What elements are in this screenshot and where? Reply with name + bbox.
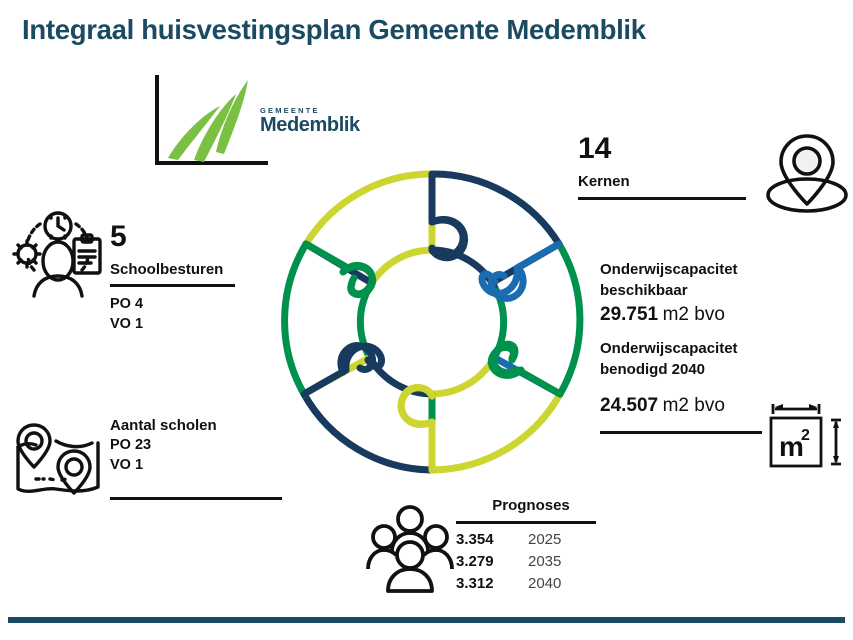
page-title: Integraal huisvestingsplan Gemeente Mede…: [22, 14, 646, 46]
map-with-pins-icon: [12, 417, 108, 495]
benodigd-label-line2: benodigd 2040: [600, 359, 762, 380]
prognoses-year: 2040: [528, 575, 561, 592]
scholen-po: PO 23: [110, 435, 282, 455]
prognoses-year: 2025: [528, 531, 561, 548]
stat-aantal-scholen: Aantal scholen PO 23 VO 1: [110, 417, 282, 500]
location-pin-icon: [762, 132, 852, 214]
prognoses-value: 3.312: [456, 575, 528, 592]
schoolbesturen-vo: VO 1: [110, 314, 235, 334]
benodigd-value: 24.507: [600, 395, 658, 416]
kernen-label: Kernen: [578, 173, 746, 190]
benodigd-value-line: 24.507 m2 bvo: [600, 395, 762, 417]
table-row: 3.354 2025: [456, 531, 606, 548]
square-meter-dimension-icon: m 2: [765, 398, 847, 470]
beschikbaar-unit: m2 bvo: [663, 304, 725, 325]
infographic-canvas: Integraal huisvestingsplan Gemeente Mede…: [0, 0, 853, 640]
stat-schoolbesturen: 5 Schoolbesturen PO 4 VO 1: [110, 222, 235, 334]
prognoses-value: 3.279: [456, 553, 528, 570]
stat-onderwijscapaciteit-beschikbaar: Onderwijscapacitet beschikbaar 29.751 m2…: [600, 259, 738, 326]
prognoses-value: 3.354: [456, 531, 528, 548]
beschikbaar-value-line: 29.751 m2 bvo: [600, 304, 738, 326]
kernen-count: 14: [578, 134, 746, 164]
beschikbaar-value: 29.751: [600, 304, 658, 325]
beschikbaar-label-line2: beschikbaar: [600, 280, 738, 301]
beschikbaar-label-line1: Onderwijscapacitet: [600, 259, 738, 280]
scholen-vo: VO 1: [110, 455, 282, 475]
prognoses-title: Prognoses: [456, 497, 606, 514]
schoolbesturen-divider: [110, 284, 235, 287]
scholen-divider: [110, 497, 282, 500]
prognoses-year: 2035: [528, 553, 561, 570]
m2-icon-exponent: 2: [801, 427, 810, 444]
schoolbesturen-label: Schoolbesturen: [110, 261, 235, 278]
kernen-divider: [578, 197, 746, 200]
footer-bar: [8, 617, 845, 623]
circular-puzzle-six-pieces: [272, 152, 592, 492]
logo-municipality-name: Medemblik: [260, 114, 360, 137]
benodigd-divider: [600, 431, 762, 434]
prognoses-table: Prognoses 3.354 2025 3.279 2035 3.312 20…: [456, 497, 606, 597]
school-board-person-gear-clock-clipboard-icon: [10, 206, 106, 298]
benodigd-unit: m2 bvo: [663, 395, 725, 416]
scholen-label: Aantal scholen: [110, 417, 282, 434]
stat-kernen: 14 Kernen: [578, 134, 746, 200]
benodigd-label-line1: Onderwijscapacitet: [600, 338, 762, 359]
table-row: 3.312 2040: [456, 575, 606, 592]
table-row: 3.279 2035: [456, 553, 606, 570]
schoolbesturen-po: PO 4: [110, 294, 235, 314]
schoolbesturen-count: 5: [110, 222, 235, 252]
medemblik-leaves-logo-icon: [152, 72, 272, 168]
stat-onderwijscapaciteit-benodigd: Onderwijscapacitet benodigd 2040 24.507 …: [600, 338, 762, 434]
logo-wordmark: GEMEENTE Medemblik: [260, 106, 360, 137]
prognoses-divider: [456, 521, 596, 524]
group-of-people-icon: [362, 503, 458, 595]
